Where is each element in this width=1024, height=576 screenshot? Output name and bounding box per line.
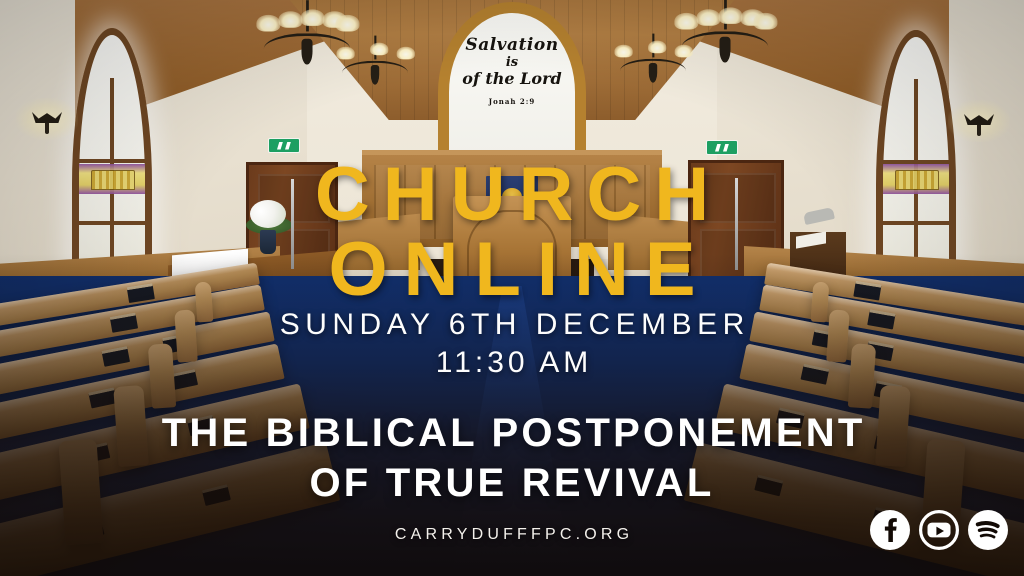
headline-line-1: CHURCH: [315, 152, 722, 237]
poster-text-content: CHURCH ONLINE SUNDAY 6TH DECEMBER 11:30 …: [0, 0, 1024, 576]
social-links: [868, 508, 1010, 552]
facebook-icon[interactable]: [868, 508, 912, 552]
church-online-announcement-poster: Salvation is of the Lord Jonah 2:9: [0, 0, 1024, 576]
spotify-icon[interactable]: [966, 508, 1010, 552]
sermon-title-line-1: THE BIBLICAL POSTPONEMENT: [162, 411, 866, 455]
headline: CHURCH ONLINE: [0, 157, 1024, 307]
youtube-icon[interactable]: [917, 508, 961, 552]
service-datetime: SUNDAY 6TH DECEMBER 11:30 AM: [0, 306, 1024, 383]
service-date: SUNDAY 6TH DECEMBER: [280, 308, 750, 341]
door-handle: [735, 178, 738, 271]
door-handle: [291, 179, 294, 269]
service-time: 11:30 AM: [0, 344, 1024, 382]
headline-line-2: ONLINE: [0, 232, 1024, 307]
sermon-title-line-2: OF TRUE REVIVAL: [309, 461, 714, 505]
sermon-title: THE BIBLICAL POSTPONEMENT OF TRUE REVIVA…: [0, 409, 1024, 508]
